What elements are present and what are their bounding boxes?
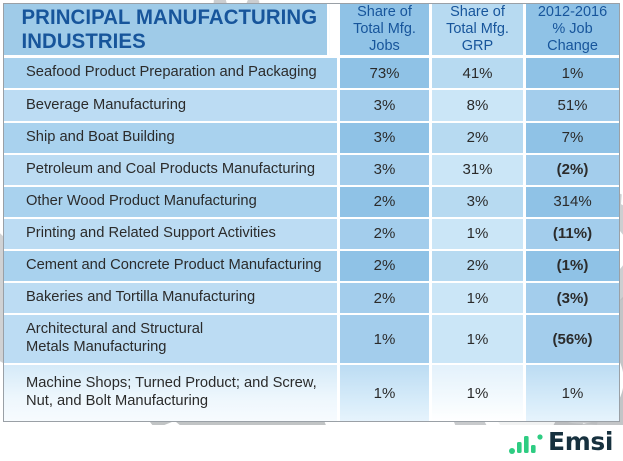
row-share-grp: 3% xyxy=(432,187,526,219)
column-header-share-of-total-mfg-jobs: Share of Total Mfg. Jobs xyxy=(340,4,432,58)
row-industry-name-line-1: Machine Shops; Turned Product; and Screw… xyxy=(26,375,331,393)
manufacturing-industries-table: PRINCIPAL MANUFACTURING INDUSTRIES Share… xyxy=(4,4,619,421)
row-job-change: (11%) xyxy=(526,219,619,251)
table-header: PRINCIPAL MANUFACTURING INDUSTRIES Share… xyxy=(4,4,619,58)
row-job-change: 314% xyxy=(526,187,619,219)
row-job-change: 1% xyxy=(526,365,619,421)
row-industry-name-line-1: Beverage Manufacturing xyxy=(26,97,331,115)
table-title: PRINCIPAL MANUFACTURING INDUSTRIES xyxy=(4,4,330,58)
row-industry-name: Petroleum and Coal Products Manufacturin… xyxy=(4,155,340,187)
row-industry-name: Other Wood Product Manufacturing xyxy=(4,187,340,219)
row-share-jobs: 3% xyxy=(340,155,432,187)
column-header-change-line-3: Change xyxy=(526,38,619,55)
column-header-job-change: 2012-2016 % Job Change xyxy=(526,4,619,58)
row-share-jobs: 2% xyxy=(340,283,432,315)
table-row: Machine Shops; Turned Product; and Screw… xyxy=(4,365,619,421)
row-share-jobs: 3% xyxy=(340,90,432,122)
table-row: Ship and Boat Building 3% 2% 7% xyxy=(4,123,619,155)
footer: Emsi xyxy=(0,425,623,461)
row-job-change: 7% xyxy=(526,123,619,155)
table-row: Seafood Product Preparation and Packagin… xyxy=(4,58,619,90)
emsi-logo: Emsi xyxy=(509,430,613,454)
row-industry-name: Printing and Related Support Activities xyxy=(4,219,340,251)
infographic-root: PRINCIPAL MANUFACTURING INDUSTRIES Share… xyxy=(0,0,623,461)
row-share-jobs: 1% xyxy=(340,365,432,421)
row-industry-name-line-1: Printing and Related Support Activities xyxy=(26,225,331,243)
table-row: Other Wood Product Manufacturing 2% 3% 3… xyxy=(4,187,619,219)
row-job-change: (2%) xyxy=(526,155,619,187)
column-header-change-line-1: 2012-2016 xyxy=(526,4,619,21)
bar-chart-icon xyxy=(509,432,543,454)
table-row: Cement and Concrete Product Manufacturin… xyxy=(4,251,619,283)
row-industry-name-line-1: Ship and Boat Building xyxy=(26,129,331,147)
row-share-jobs: 3% xyxy=(340,123,432,155)
row-industry-name-line-2: Metals Manufacturing xyxy=(26,339,331,357)
row-industry-name-line-1: Bakeries and Tortilla Manufacturing xyxy=(26,289,331,307)
row-share-grp: 1% xyxy=(432,219,526,251)
row-share-grp: 1% xyxy=(432,283,526,315)
row-share-grp: 2% xyxy=(432,251,526,283)
column-header-share-of-total-mfg-grp: Share of Total Mfg. GRP xyxy=(432,4,526,58)
row-job-change: (56%) xyxy=(526,315,619,365)
column-header-grp-line-1: Share of xyxy=(432,4,523,21)
row-share-grp: 31% xyxy=(432,155,526,187)
row-industry-name-line-1: Cement and Concrete Product Manufacturin… xyxy=(26,257,331,275)
row-industry-name: Bakeries and Tortilla Manufacturing xyxy=(4,283,340,315)
row-job-change: 51% xyxy=(526,90,619,122)
row-share-jobs: 1% xyxy=(340,315,432,365)
column-header-grp-line-3: GRP xyxy=(432,38,523,55)
row-industry-name: Ship and Boat Building xyxy=(4,123,340,155)
column-header-jobs-line-1: Share of xyxy=(340,4,429,21)
row-industry-name: Machine Shops; Turned Product; and Screw… xyxy=(4,365,340,421)
row-share-jobs: 2% xyxy=(340,187,432,219)
row-share-grp: 1% xyxy=(432,365,526,421)
table-title-line-1: PRINCIPAL MANUFACTURING xyxy=(21,6,327,30)
table-row: Bakeries and Tortilla Manufacturing 2% 1… xyxy=(4,283,619,315)
row-job-change: 1% xyxy=(526,58,619,90)
table-row: Architectural and Structural Metals Manu… xyxy=(4,315,619,365)
column-header-jobs-line-3: Jobs xyxy=(340,38,429,55)
row-share-jobs: 2% xyxy=(340,219,432,251)
row-share-grp: 2% xyxy=(432,123,526,155)
table-row: Petroleum and Coal Products Manufacturin… xyxy=(4,155,619,187)
column-header-change-line-2: % Job xyxy=(526,21,619,38)
emsi-logo-text: Emsi xyxy=(548,430,613,454)
row-share-grp: 1% xyxy=(432,315,526,365)
table-body: Seafood Product Preparation and Packagin… xyxy=(4,58,619,421)
column-header-jobs-line-2: Total Mfg. xyxy=(340,21,429,38)
table-header-row: PRINCIPAL MANUFACTURING INDUSTRIES Share… xyxy=(4,4,619,58)
table-row: Printing and Related Support Activities … xyxy=(4,219,619,251)
row-industry-name-line-1: Architectural and Structural xyxy=(26,321,331,339)
row-share-grp: 41% xyxy=(432,58,526,90)
row-industry-name: Seafood Product Preparation and Packagin… xyxy=(4,58,340,90)
row-industry-name-line-1: Other Wood Product Manufacturing xyxy=(26,193,331,211)
table-title-line-2: INDUSTRIES xyxy=(21,30,327,54)
manufacturing-industries-table-container: PRINCIPAL MANUFACTURING INDUSTRIES Share… xyxy=(3,3,620,422)
row-share-grp: 8% xyxy=(432,90,526,122)
row-industry-name-line-1: Seafood Product Preparation and Packagin… xyxy=(26,64,331,82)
row-share-jobs: 73% xyxy=(340,58,432,90)
row-industry-name: Beverage Manufacturing xyxy=(4,90,340,122)
row-job-change: (1%) xyxy=(526,251,619,283)
row-industry-name-line-1: Petroleum and Coal Products Manufacturin… xyxy=(26,161,331,179)
table-row: Beverage Manufacturing 3% 8% 51% xyxy=(4,90,619,122)
column-header-grp-line-2: Total Mfg. xyxy=(432,21,523,38)
row-industry-name: Architectural and Structural Metals Manu… xyxy=(4,315,340,365)
row-industry-name: Cement and Concrete Product Manufacturin… xyxy=(4,251,340,283)
row-share-jobs: 2% xyxy=(340,251,432,283)
row-industry-name-line-2: Nut, and Bolt Manufacturing xyxy=(26,393,331,411)
row-job-change: (3%) xyxy=(526,283,619,315)
